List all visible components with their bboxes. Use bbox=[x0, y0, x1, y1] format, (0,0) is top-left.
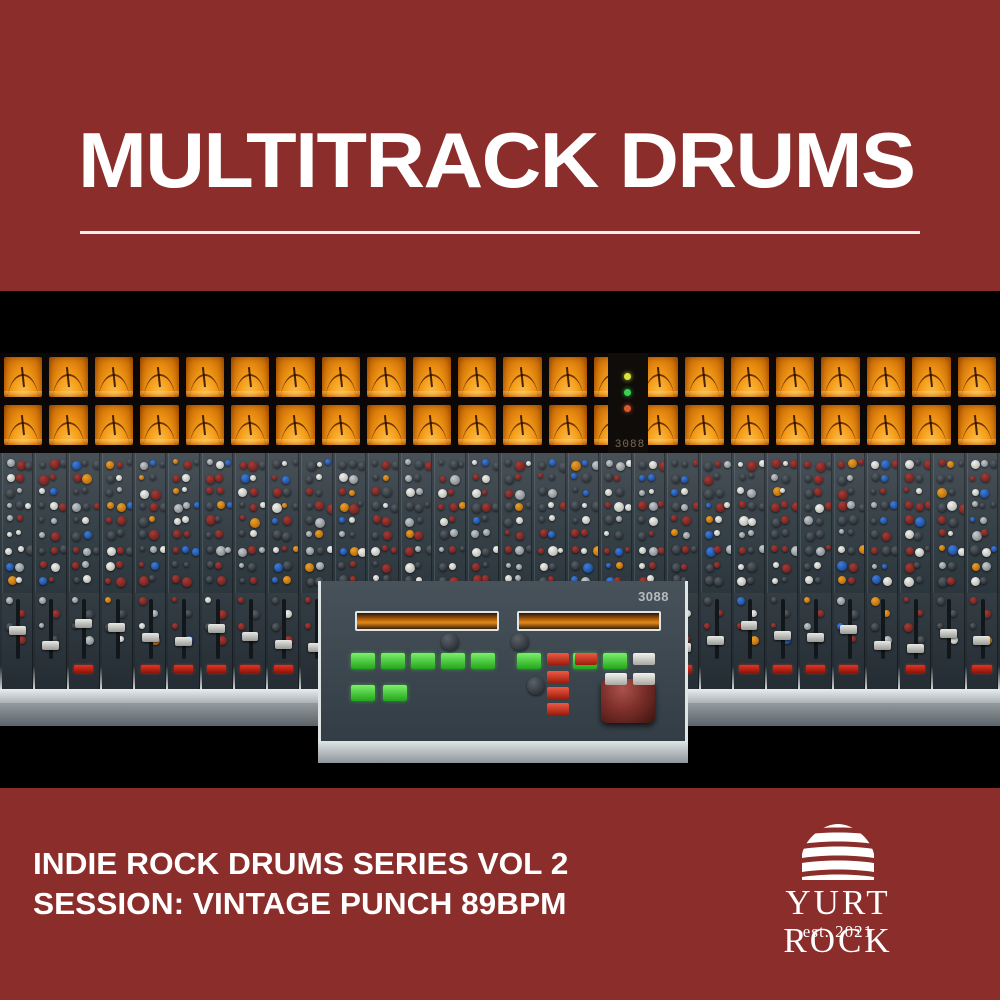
console-knob bbox=[471, 530, 479, 538]
console-knob bbox=[706, 516, 713, 523]
fader-channel bbox=[767, 593, 798, 689]
console-knob bbox=[358, 462, 366, 470]
vu-meter bbox=[95, 405, 133, 445]
console-knob bbox=[339, 517, 345, 523]
vu-meter bbox=[4, 405, 42, 445]
console-knob bbox=[949, 489, 955, 495]
console-knob bbox=[582, 460, 588, 466]
console-knob bbox=[84, 531, 92, 539]
console-knob bbox=[805, 546, 814, 555]
console-knob bbox=[173, 459, 178, 464]
vu-meter-lamp bbox=[503, 439, 541, 444]
console-knob bbox=[340, 503, 349, 512]
console-knob bbox=[60, 545, 67, 553]
console-knob bbox=[972, 501, 978, 507]
console-knob bbox=[282, 476, 290, 484]
console-knob bbox=[405, 518, 414, 527]
fader-cap bbox=[973, 636, 990, 645]
console-knob bbox=[790, 460, 798, 468]
fader-cap bbox=[142, 633, 159, 642]
console-knob bbox=[616, 488, 624, 496]
console-knob bbox=[771, 530, 779, 538]
console-knob bbox=[39, 517, 44, 522]
console-knob bbox=[848, 488, 854, 494]
console-knob bbox=[107, 502, 114, 509]
console-knob bbox=[706, 564, 714, 572]
console-knob bbox=[238, 548, 247, 557]
channel-strip bbox=[834, 453, 865, 593]
console-knob bbox=[405, 475, 412, 482]
vu-meter bbox=[458, 405, 496, 445]
vu-meter-lamp bbox=[912, 391, 950, 396]
console-knob bbox=[425, 462, 432, 470]
console-knob bbox=[227, 502, 233, 508]
vu-meter bbox=[776, 357, 814, 397]
console-knob bbox=[283, 576, 291, 584]
console-knob bbox=[505, 530, 510, 535]
fader-section-knob bbox=[85, 610, 94, 619]
channel-strip bbox=[501, 453, 532, 593]
fader-channel bbox=[268, 593, 299, 689]
console-knob bbox=[405, 563, 415, 573]
vu-meter bbox=[49, 357, 87, 397]
console-knob bbox=[149, 530, 159, 540]
console-knob bbox=[107, 531, 116, 540]
console-knob bbox=[340, 548, 347, 555]
console-knob bbox=[206, 487, 213, 494]
console-knob bbox=[382, 564, 391, 573]
vu-meter-lamp bbox=[867, 391, 905, 396]
console-knob bbox=[872, 564, 877, 569]
channel-strip bbox=[135, 453, 166, 593]
console-knob bbox=[539, 516, 545, 522]
console-knob bbox=[248, 546, 256, 554]
console-knob bbox=[207, 546, 214, 553]
yurt-dome-icon bbox=[790, 824, 886, 880]
console-knob bbox=[405, 547, 414, 556]
console-knob bbox=[771, 503, 780, 512]
console-knob bbox=[891, 546, 898, 555]
console-knob bbox=[225, 547, 231, 553]
console-knob bbox=[649, 562, 656, 569]
console-knob bbox=[882, 564, 887, 569]
channel-strip bbox=[301, 453, 332, 593]
console-knob bbox=[50, 459, 60, 469]
vu-meter-lamp bbox=[912, 439, 950, 444]
vu-meter bbox=[731, 405, 769, 445]
vu-meter-lamp bbox=[776, 391, 814, 396]
console-knob bbox=[948, 545, 958, 555]
console-knob bbox=[117, 547, 124, 554]
console-knob bbox=[649, 461, 657, 469]
console-knob bbox=[315, 501, 324, 510]
console-knob bbox=[173, 475, 180, 482]
console-knob bbox=[241, 474, 250, 483]
console-knob bbox=[273, 488, 282, 497]
console-knob bbox=[316, 562, 324, 570]
console-knob bbox=[582, 473, 591, 482]
console-knob bbox=[838, 546, 845, 553]
vu-meter bbox=[821, 357, 859, 397]
vu-meter bbox=[413, 405, 451, 445]
vu-meter-lamp bbox=[4, 391, 42, 396]
footer-line-session: SESSION: VINTAGE PUNCH 89BPM bbox=[33, 884, 747, 924]
console-knob bbox=[958, 548, 965, 556]
console-knob bbox=[415, 546, 421, 552]
console-knob bbox=[306, 516, 314, 524]
transport-button-green bbox=[381, 653, 405, 669]
console-knob bbox=[614, 475, 620, 481]
console-knob bbox=[814, 488, 822, 496]
console-knob bbox=[573, 487, 578, 492]
fader-section-knob bbox=[804, 597, 810, 603]
console-knob bbox=[358, 548, 366, 557]
console-knob bbox=[948, 562, 956, 570]
console-knob bbox=[472, 460, 477, 465]
fader-section-knob bbox=[105, 597, 111, 603]
console-knob bbox=[871, 518, 877, 524]
console-knob bbox=[459, 502, 466, 509]
console-knob bbox=[970, 517, 975, 522]
vu-meter-lamp bbox=[186, 391, 224, 396]
fader-section-knob bbox=[704, 623, 710, 629]
console-knob bbox=[50, 474, 56, 480]
vu-meter bbox=[912, 405, 950, 445]
console-knob bbox=[571, 529, 579, 537]
console-knob bbox=[482, 548, 490, 556]
console-knob bbox=[872, 575, 881, 584]
console-knob bbox=[293, 459, 299, 465]
console-knob bbox=[216, 461, 224, 469]
logo-established: est. 2021 bbox=[728, 922, 948, 942]
console-knob bbox=[772, 578, 778, 584]
fader-slot bbox=[282, 599, 286, 659]
console-knob bbox=[606, 563, 611, 568]
console-knob bbox=[558, 548, 563, 553]
console-knob bbox=[658, 547, 665, 554]
console-knob bbox=[549, 459, 556, 466]
console-knob bbox=[571, 501, 580, 510]
fader-channel bbox=[734, 593, 765, 689]
console-knob bbox=[782, 475, 790, 483]
console-knob bbox=[959, 461, 964, 466]
vu-meter bbox=[276, 357, 314, 397]
console-knob bbox=[72, 562, 79, 569]
console-knob bbox=[72, 503, 81, 512]
vu-meter bbox=[322, 357, 360, 397]
console-knob bbox=[438, 504, 444, 510]
console-knob bbox=[382, 461, 390, 469]
vu-meter bbox=[49, 405, 87, 445]
console-knob bbox=[215, 562, 222, 569]
console-knob bbox=[905, 501, 913, 509]
console-knob bbox=[816, 462, 826, 472]
fader-section-knob bbox=[970, 597, 977, 604]
fader-section-knob bbox=[970, 623, 976, 629]
channel-strip bbox=[967, 453, 998, 593]
console-knob bbox=[939, 459, 946, 466]
console-knob bbox=[991, 546, 997, 552]
console-knob bbox=[7, 532, 12, 537]
console-knob bbox=[515, 461, 525, 471]
console-knob bbox=[207, 459, 213, 465]
console-knob bbox=[272, 475, 277, 480]
console-knob bbox=[139, 530, 147, 538]
fader-section-knob bbox=[804, 623, 811, 630]
console-knob bbox=[151, 562, 159, 570]
console-knob bbox=[59, 503, 66, 511]
console-knob bbox=[117, 529, 124, 536]
console-knob bbox=[448, 489, 454, 495]
console-knob bbox=[483, 562, 488, 567]
vu-meter-row-upper bbox=[0, 357, 1000, 397]
console-knob bbox=[239, 530, 245, 536]
footer-block: INDIE ROCK DRUMS SERIES VOL 2 SESSION: V… bbox=[0, 788, 1000, 1000]
console-knob bbox=[415, 562, 421, 568]
console-knob bbox=[250, 504, 257, 511]
channel-strip bbox=[2, 453, 33, 593]
fader-cap bbox=[208, 624, 225, 633]
console-knob bbox=[814, 562, 821, 569]
console-knob bbox=[182, 474, 190, 482]
channel-strip bbox=[634, 453, 665, 593]
console-knob bbox=[615, 531, 623, 539]
console-knob bbox=[283, 488, 291, 496]
console-knob bbox=[681, 564, 687, 570]
console-knob bbox=[791, 546, 798, 556]
console-knob bbox=[540, 563, 548, 571]
status-led-orange bbox=[624, 405, 631, 412]
console-knob bbox=[373, 515, 381, 523]
console-knob bbox=[140, 503, 146, 509]
console-knob bbox=[714, 473, 720, 479]
transport-button-green bbox=[517, 653, 541, 669]
console-knob bbox=[392, 461, 399, 469]
console-knob bbox=[747, 562, 757, 572]
console-knob bbox=[526, 461, 531, 466]
console-knob bbox=[626, 460, 632, 467]
console-knob bbox=[681, 504, 688, 511]
console-knob bbox=[914, 562, 920, 568]
console-knob bbox=[805, 475, 812, 482]
console-knob bbox=[705, 531, 713, 539]
fader-cap bbox=[940, 629, 957, 638]
fader-section-knob bbox=[139, 623, 145, 629]
channel-mute-switch bbox=[240, 665, 259, 673]
console-knob bbox=[972, 563, 980, 571]
console-knob bbox=[51, 547, 58, 554]
center-section-knob bbox=[511, 633, 529, 651]
console-knob bbox=[248, 563, 256, 571]
console-knob bbox=[616, 562, 623, 569]
vu-meter bbox=[367, 405, 405, 445]
console-knob bbox=[339, 473, 348, 482]
console-knob bbox=[573, 518, 578, 523]
channel-strip bbox=[534, 453, 565, 593]
console-knob bbox=[316, 490, 322, 496]
console-knob bbox=[539, 504, 546, 511]
console-knob bbox=[17, 515, 23, 521]
vu-meter-lamp bbox=[413, 439, 451, 444]
console-knob bbox=[117, 516, 126, 525]
fader-slot bbox=[781, 599, 785, 659]
vu-meter bbox=[867, 405, 905, 445]
vu-meter-bridge: 3088 bbox=[0, 353, 1000, 453]
channel-strip bbox=[701, 453, 732, 593]
console-knob bbox=[859, 504, 865, 511]
transport-button-green bbox=[603, 653, 627, 669]
console-knob bbox=[160, 546, 166, 553]
fader-section-knob bbox=[871, 597, 880, 606]
console-knob bbox=[184, 531, 190, 537]
fader-cap bbox=[275, 640, 292, 649]
status-led-yellow bbox=[624, 373, 631, 380]
fader-slot bbox=[182, 599, 186, 659]
console-knob bbox=[792, 502, 799, 511]
console-knob bbox=[40, 462, 46, 468]
console-knob bbox=[871, 489, 876, 494]
console-knob bbox=[649, 502, 658, 511]
console-knob bbox=[350, 532, 355, 537]
console-knob bbox=[915, 459, 921, 465]
console-knob bbox=[25, 462, 33, 470]
console-knob bbox=[106, 517, 112, 523]
channel-strip-field bbox=[0, 453, 1000, 593]
console-knob bbox=[639, 475, 645, 481]
console-knob bbox=[74, 577, 80, 583]
console-knob bbox=[82, 517, 89, 524]
vu-meter-lamp bbox=[140, 391, 178, 396]
console-knob bbox=[72, 532, 81, 541]
console-knob bbox=[693, 460, 699, 466]
console-knob bbox=[592, 461, 599, 470]
console-knob bbox=[473, 517, 480, 524]
console-knob bbox=[980, 517, 987, 524]
console-knob bbox=[837, 561, 847, 571]
console-surface: 3088 bbox=[0, 453, 1000, 726]
console-knob bbox=[904, 487, 909, 492]
vu-meter bbox=[186, 405, 224, 445]
console-knob bbox=[439, 563, 447, 571]
vu-meter bbox=[367, 357, 405, 397]
vu-meter-lamp bbox=[95, 391, 133, 396]
console-knob bbox=[127, 502, 133, 509]
console-knob bbox=[182, 546, 189, 553]
console-knob bbox=[272, 518, 278, 524]
fader-section-knob bbox=[272, 623, 280, 631]
console-knob bbox=[804, 516, 813, 525]
function-button-white bbox=[633, 673, 655, 685]
console-knob bbox=[947, 475, 953, 481]
fader-section-knob bbox=[238, 597, 244, 603]
console-knob bbox=[182, 577, 192, 587]
console-knob bbox=[881, 501, 889, 509]
title-divider-rule bbox=[80, 231, 920, 234]
console-knob bbox=[307, 461, 317, 471]
console-knob bbox=[449, 546, 456, 553]
console-knob bbox=[338, 562, 345, 569]
console-knob bbox=[373, 474, 379, 480]
console-knob bbox=[505, 546, 512, 553]
console-knob bbox=[815, 504, 824, 513]
console-knob bbox=[140, 462, 148, 470]
console-knob bbox=[970, 476, 975, 481]
console-knob bbox=[192, 548, 200, 556]
console-knob bbox=[681, 476, 688, 483]
console-knob bbox=[871, 461, 879, 469]
console-knob bbox=[937, 475, 945, 483]
console-knob bbox=[49, 577, 54, 582]
console-knob bbox=[706, 503, 711, 508]
console-knob bbox=[549, 563, 556, 570]
console-knob bbox=[72, 461, 81, 470]
console-knob bbox=[415, 460, 424, 469]
console-knob bbox=[738, 564, 744, 570]
console-knob bbox=[472, 489, 481, 498]
console-knob bbox=[871, 547, 878, 554]
console-knob bbox=[240, 578, 245, 583]
console-knob bbox=[805, 504, 812, 511]
console-knob bbox=[405, 459, 411, 465]
fader-cap bbox=[175, 637, 192, 646]
console-knob bbox=[506, 563, 511, 568]
vu-meter bbox=[231, 357, 269, 397]
vu-meter bbox=[458, 357, 496, 397]
channel-strip bbox=[933, 453, 964, 593]
console-knob bbox=[493, 546, 499, 553]
console-knob bbox=[915, 517, 925, 527]
console-knob bbox=[15, 563, 24, 572]
console-knob bbox=[638, 516, 645, 523]
console-knob bbox=[391, 504, 399, 512]
console-knob bbox=[17, 488, 22, 493]
fader-section-knob bbox=[904, 597, 909, 602]
console-knob bbox=[492, 503, 499, 511]
console-knob bbox=[215, 530, 223, 538]
vu-meter-lamp bbox=[413, 391, 451, 396]
console-knob bbox=[938, 503, 947, 512]
console-knob bbox=[217, 501, 225, 509]
console-knob bbox=[273, 460, 281, 468]
fader-section-knob bbox=[39, 597, 46, 604]
console-knob bbox=[682, 546, 689, 553]
fader-channel bbox=[900, 593, 931, 689]
vu-meter-lamp bbox=[549, 391, 587, 396]
console-knob bbox=[406, 530, 414, 538]
vu-meter-lamp bbox=[821, 391, 859, 396]
vu-meter bbox=[186, 357, 224, 397]
console-knob bbox=[838, 476, 847, 485]
channel-strip bbox=[235, 453, 266, 593]
channel-strip bbox=[734, 453, 765, 593]
console-knob bbox=[771, 545, 778, 552]
vu-meter-lamp bbox=[4, 439, 42, 444]
fader-channel bbox=[967, 593, 998, 689]
vu-meter-lamp bbox=[685, 391, 723, 396]
console-knob bbox=[449, 563, 456, 570]
console-knob bbox=[150, 460, 156, 466]
transport-button-green bbox=[383, 685, 407, 701]
fader-cap bbox=[807, 633, 824, 642]
vu-meter bbox=[685, 405, 723, 445]
brand-logo: YURT ROCK est. 2021 bbox=[728, 824, 948, 954]
led-display-left bbox=[355, 611, 499, 631]
console-knob bbox=[127, 459, 133, 465]
console-knob bbox=[916, 503, 924, 511]
console-knob bbox=[383, 475, 389, 481]
console-knob bbox=[906, 547, 914, 555]
console-knob bbox=[649, 531, 654, 536]
